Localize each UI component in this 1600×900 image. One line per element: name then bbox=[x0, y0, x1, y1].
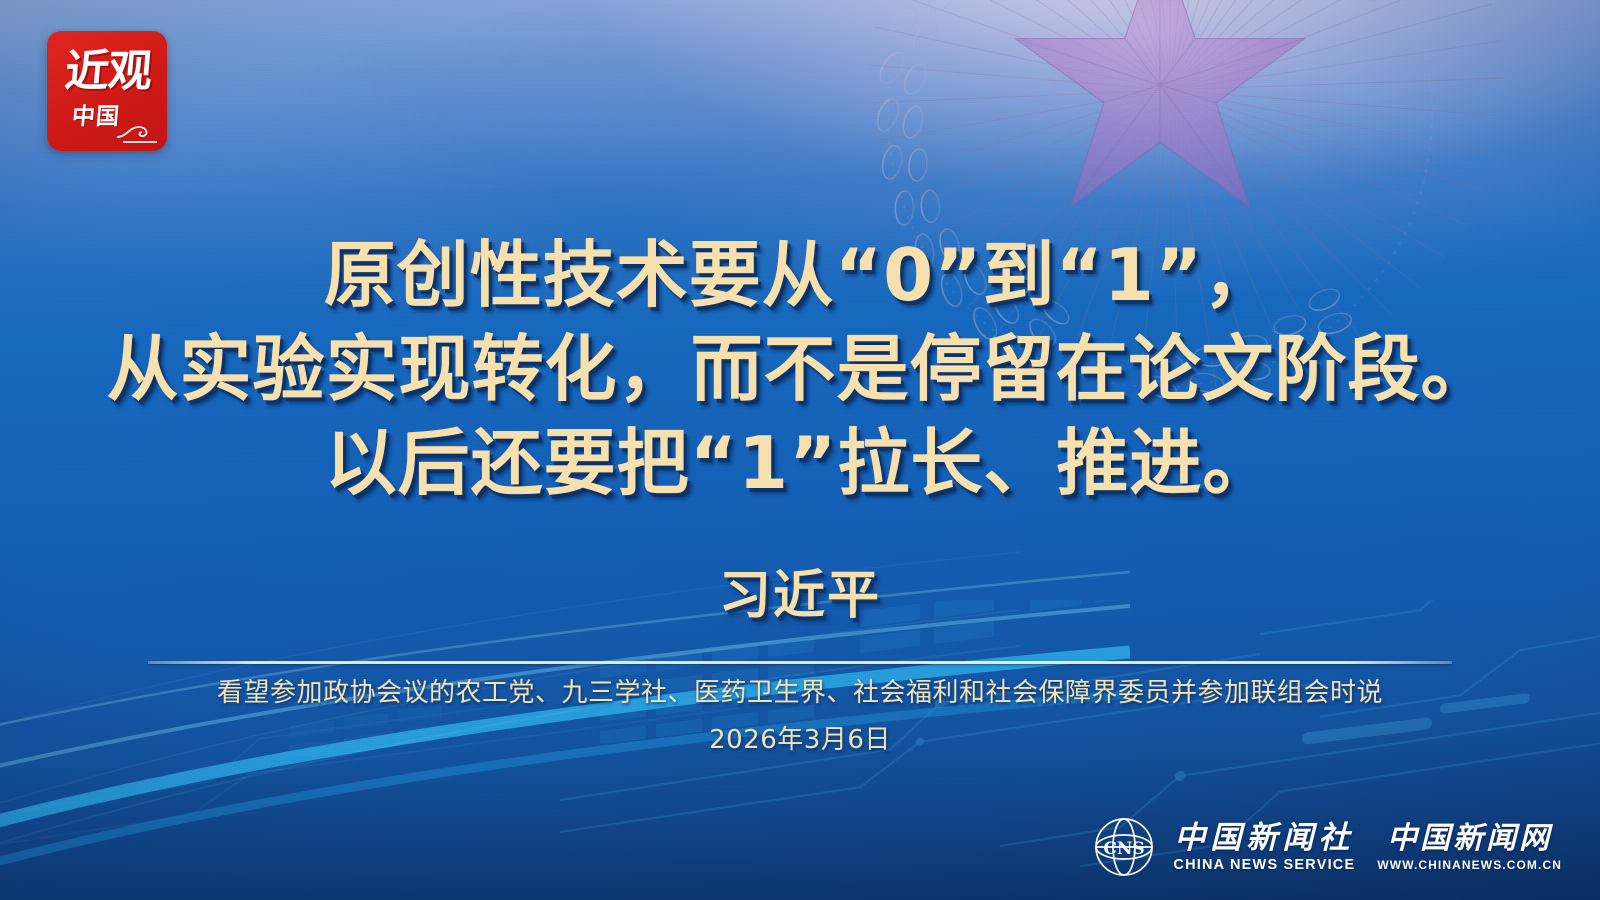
cns-name-cn: 中国新闻社 bbox=[1174, 820, 1354, 856]
quote-line-2: 从实验实现转化，而不是停留在论文阶段。 bbox=[0, 322, 1600, 416]
cnw-url: WWW.CHINANEWS.COM.CN bbox=[1377, 857, 1562, 874]
china-news-service-logo: 中国新闻社 CHINA NEWS SERVICE bbox=[1173, 820, 1355, 874]
jinguan-zhongguo-logo[interactable]: 近观 中国 bbox=[47, 31, 167, 151]
cns-globe-icon: CNS bbox=[1093, 816, 1155, 878]
cns-name-en: CHINA NEWS SERVICE bbox=[1173, 856, 1355, 874]
quote-line-1: 原创性技术要从“0”到“1”， bbox=[0, 228, 1600, 322]
caption-occasion: 看望参加政协会议的农工党、九三学社、医药卫生界、社会福利和社会保障界委员并参加联… bbox=[217, 678, 1383, 708]
poster-canvas: 近观 中国 原创性技术要从“0”到“1”， 从实验实现转化，而不是停留在论文阶段… bbox=[0, 0, 1600, 900]
logo-main-text: 近观 bbox=[52, 41, 164, 105]
caption-block: 看望参加政协会议的农工党、九三学社、医药卫生界、社会福利和社会保障界委员并参加联… bbox=[0, 672, 1600, 761]
horizontal-divider bbox=[148, 661, 1452, 664]
quote-block: 原创性技术要从“0”到“1”， 从实验实现转化，而不是停留在论文阶段。 以后还要… bbox=[0, 228, 1600, 510]
five-point-star-icon bbox=[1016, 0, 1305, 206]
footer-logo-group: CNS 中国新闻社 CHINA NEWS SERVICE 中国新闻网 WWW.C… bbox=[1093, 816, 1562, 878]
quote-line-3: 以后还要把“1”拉长、推进。 bbox=[0, 416, 1600, 510]
caption-date: 2026年3月6日 bbox=[0, 719, 1600, 761]
speaker-name: 习近平 bbox=[0, 560, 1600, 632]
cloud-swirl-icon bbox=[113, 115, 161, 145]
chinanews-web-logo: 中国新闻网 WWW.CHINANEWS.COM.CN bbox=[1377, 821, 1562, 874]
cns-mark-text: CNS bbox=[1104, 839, 1145, 859]
cnw-name-cn: 中国新闻网 bbox=[1387, 821, 1552, 857]
